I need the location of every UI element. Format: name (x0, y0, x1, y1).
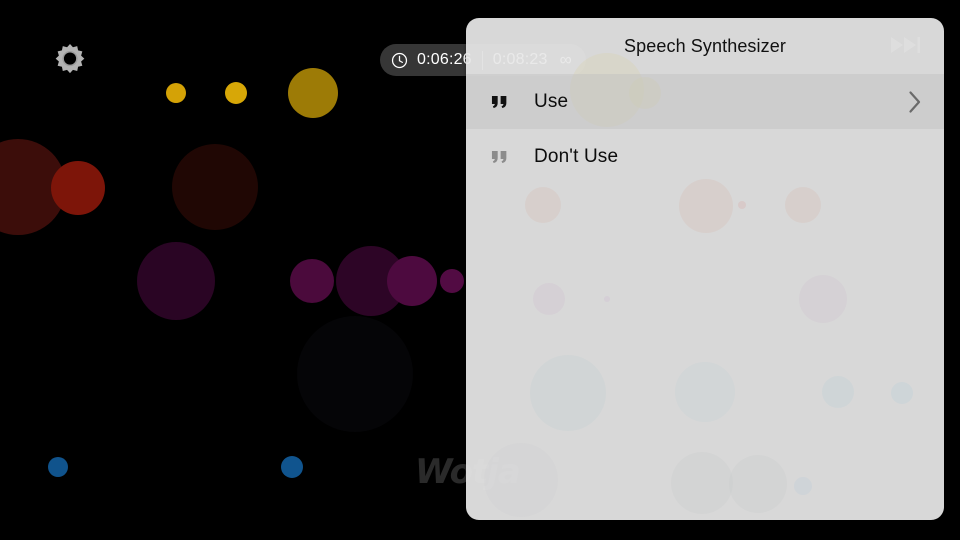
chevron-right-icon[interactable] (908, 90, 922, 114)
visualizer-blob (290, 259, 334, 303)
speech-synthesizer-panel: Speech Synthesizer UseDon't Use (466, 18, 944, 520)
quote-icon (488, 144, 514, 170)
visualizer-blob (225, 82, 247, 104)
visualizer-blob (281, 456, 303, 478)
visualizer-blob (48, 457, 68, 477)
quote-icon (488, 89, 514, 115)
visualizer-blob (440, 269, 464, 293)
page-title: Speech Synthesizer (624, 36, 786, 57)
visualizer-blob (166, 83, 186, 103)
visualizer-blob (137, 242, 215, 320)
option-label: Don't Use (534, 146, 618, 168)
option-label: Use (534, 91, 568, 113)
visualizer-blob (172, 144, 258, 230)
panel-content: Speech Synthesizer UseDon't Use (466, 18, 944, 520)
visualizer-blob (288, 68, 338, 118)
skip-forward-icon[interactable] (886, 30, 928, 60)
panel-header: Speech Synthesizer (466, 18, 944, 74)
clock-icon (391, 52, 408, 69)
app-root: Wotja 0:06:26 0:08:23 ∞ Speech Syn (0, 0, 960, 540)
visualizer-blob (51, 161, 105, 215)
gear-icon[interactable] (51, 41, 89, 79)
options-list: UseDon't Use (466, 74, 944, 184)
option-row-use[interactable]: Use (466, 74, 944, 129)
timer-elapsed: 0:06:26 (417, 51, 472, 69)
visualizer-blob (297, 316, 413, 432)
visualizer-blob (387, 256, 437, 306)
option-row-don-t-use[interactable]: Don't Use (466, 129, 944, 184)
